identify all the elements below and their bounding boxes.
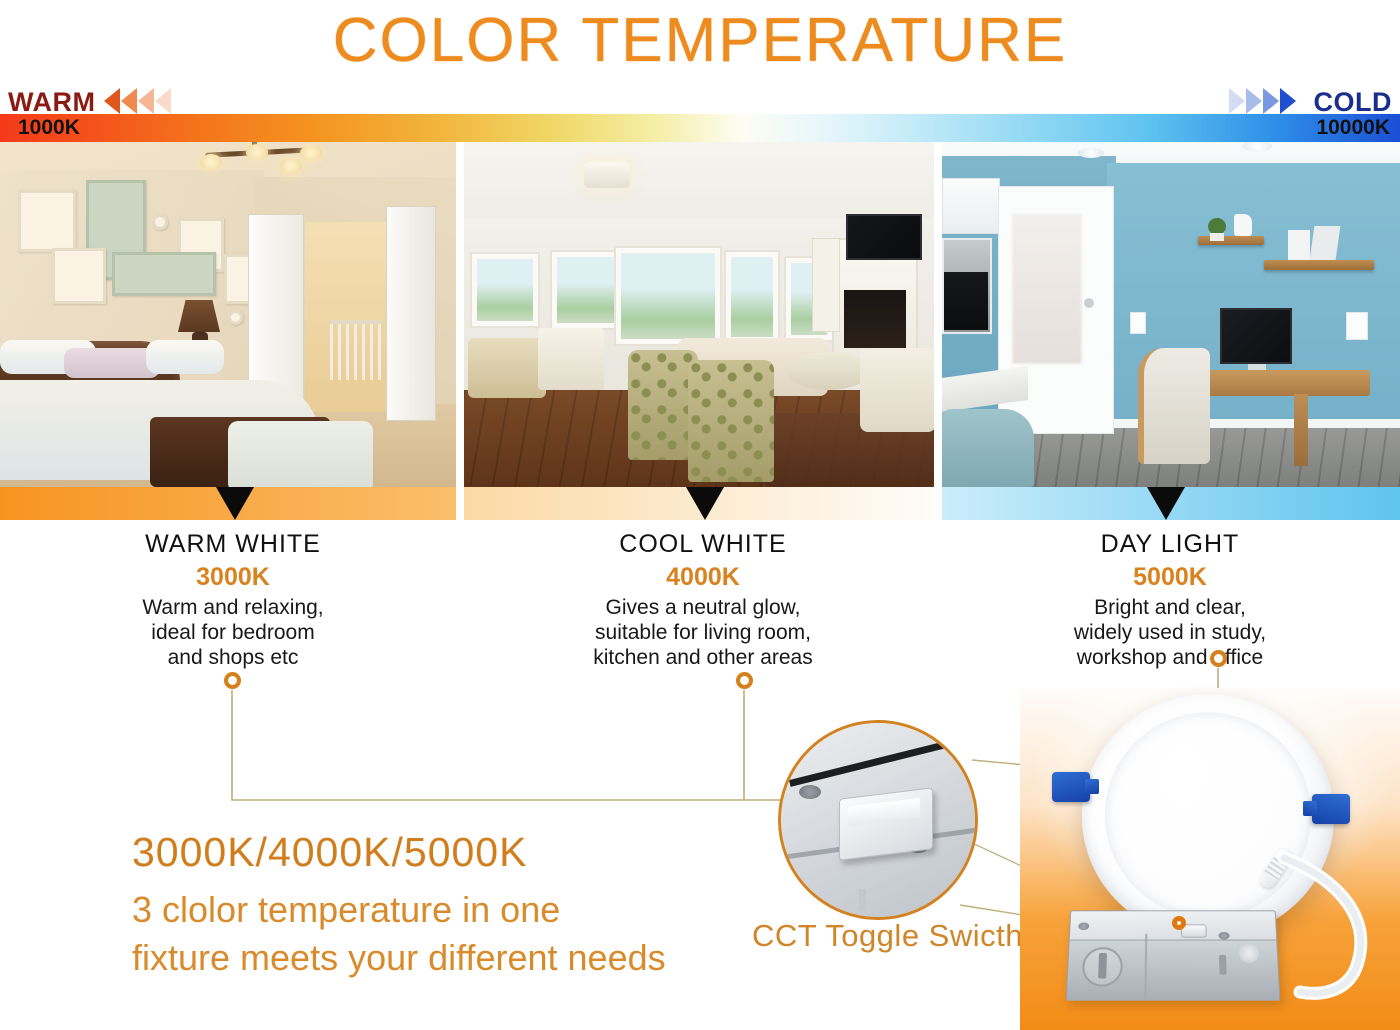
summary-tagline-line2: fixture meets your different needs — [132, 934, 712, 982]
triangle-pointer-icon — [216, 487, 254, 520]
photo-neutral-living-room — [464, 142, 934, 487]
caption-desc-line: and shops etc — [168, 646, 299, 669]
page-title: COLOR TEMPERATURE — [333, 5, 1067, 76]
page-header: COLOR TEMPERATURE — [0, 0, 1400, 80]
caption-kelvin: 3000K — [0, 563, 466, 592]
bar-day-light — [942, 487, 1400, 520]
caption-row: WARM WHITE 3000K Warm and relaxing, idea… — [0, 530, 1400, 670]
caption-warm-white: WARM WHITE 3000K Warm and relaxing, idea… — [0, 530, 466, 670]
caption-kelvin: 4000K — [466, 563, 940, 592]
photo-blue-home-office — [942, 142, 1400, 487]
summary-text-block: 3000K/4000K/5000K 3 clolor temperature i… — [132, 826, 712, 982]
chevron-left-icon — [104, 88, 120, 114]
caption-desc-line: suitable for living room, — [595, 621, 811, 644]
room-photo-row — [0, 142, 1400, 487]
summary-kelvin-list: 3000K/4000K/5000K — [132, 826, 712, 878]
ring-marker-icon — [1210, 650, 1227, 667]
mounting-clip-icon — [1312, 794, 1350, 824]
power-cable — [1270, 850, 1380, 1000]
chevron-right-icon — [1246, 88, 1262, 114]
chevron-left-icon — [138, 88, 154, 114]
ring-marker-icon — [1172, 916, 1186, 930]
triangle-pointer-icon — [686, 487, 724, 520]
caption-desc-line: Warm and relaxing, — [142, 596, 323, 619]
cold-chevrons — [1229, 88, 1296, 114]
warm-chevrons — [104, 88, 171, 114]
cct-toggle-switch-label: CCT Toggle Swicth — [752, 918, 1023, 954]
caption-desc-line: workshop and office — [1077, 646, 1263, 669]
screw-icon — [1218, 932, 1229, 940]
temperature-bar-row — [0, 487, 1400, 520]
mounting-clip-icon — [1052, 772, 1090, 802]
caption-desc-line: widely used in study, — [1074, 621, 1266, 644]
bar-cool-white — [464, 487, 934, 520]
cable-entry-icon — [1239, 943, 1260, 962]
summary-tagline-line1: 3 clolor temperature in one — [132, 886, 712, 934]
chevron-right-icon — [1280, 88, 1296, 114]
triangle-pointer-icon — [1147, 487, 1185, 520]
chevron-right-icon — [1263, 88, 1279, 114]
caption-desc-line: ideal for bedroom — [151, 621, 314, 644]
caption-title: DAY LIGHT — [940, 530, 1400, 559]
ring-marker-icon — [736, 672, 753, 689]
screw-icon — [1078, 922, 1089, 930]
bar-warm-white — [0, 487, 456, 520]
scale-max-label: 10000K — [1316, 114, 1390, 142]
caption-desc-line: kitchen and other areas — [593, 646, 812, 669]
caption-cool-white: COOL WHITE 4000K Gives a neutral glow, s… — [466, 530, 940, 670]
scale-min-label: 1000K — [18, 114, 80, 142]
caption-kelvin: 5000K — [940, 563, 1400, 592]
chevron-left-icon — [121, 88, 137, 114]
cct-toggle-switch-callout — [778, 720, 978, 920]
caption-desc-line: Gives a neutral glow, — [606, 596, 801, 619]
led-downlight-product — [1020, 688, 1400, 1030]
caption-day-light: DAY LIGHT 5000K Bright and clear, widely… — [940, 530, 1400, 670]
toggle-switch-body — [839, 787, 933, 861]
caption-title: WARM WHITE — [0, 530, 466, 559]
photo-warm-bedroom — [0, 142, 456, 487]
caption-desc-line: Bright and clear, — [1094, 596, 1246, 619]
screw-icon — [799, 785, 821, 799]
chevron-left-icon — [155, 88, 171, 114]
caption-title: COOL WHITE — [466, 530, 940, 559]
kelvin-gradient-bar: 1000K 10000K — [0, 114, 1400, 142]
ring-marker-icon — [224, 672, 241, 689]
chevron-right-icon — [1229, 88, 1245, 114]
